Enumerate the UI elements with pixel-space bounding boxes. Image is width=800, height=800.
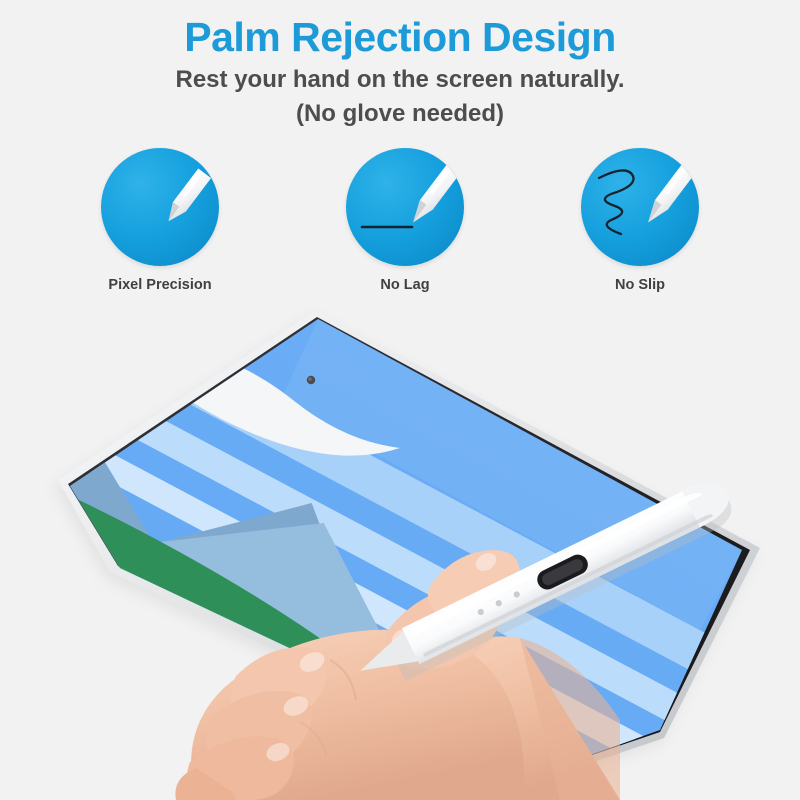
feature-item-no-lag: No Lag	[300, 148, 510, 293]
feature-label: No Slip	[535, 277, 745, 293]
stylus-drawing-fine-parallel-lines-icon	[101, 148, 219, 266]
subtitle-line-2: (No glove needed)	[0, 100, 800, 128]
subtitle-line-1: Rest your hand on the screen naturally.	[0, 66, 800, 94]
stylus-drawing-zigzag-squiggle-icon	[581, 148, 699, 266]
page-title: Palm Rejection Design	[0, 14, 800, 61]
stylus-drawing-straight-line-icon	[346, 148, 464, 266]
feature-item-no-slip: No Slip	[535, 148, 745, 293]
tablet-with-hand-and-stylus	[0, 300, 800, 800]
product-feature-image: Palm Rejection Design Rest your hand on …	[0, 0, 800, 800]
leaves	[591, 781, 800, 800]
feature-list: Pixel Precision	[0, 148, 800, 298]
feature-label: No Lag	[300, 277, 510, 293]
feature-label: Pixel Precision	[55, 277, 265, 293]
feature-item-pixel-precision: Pixel Precision	[55, 148, 265, 293]
